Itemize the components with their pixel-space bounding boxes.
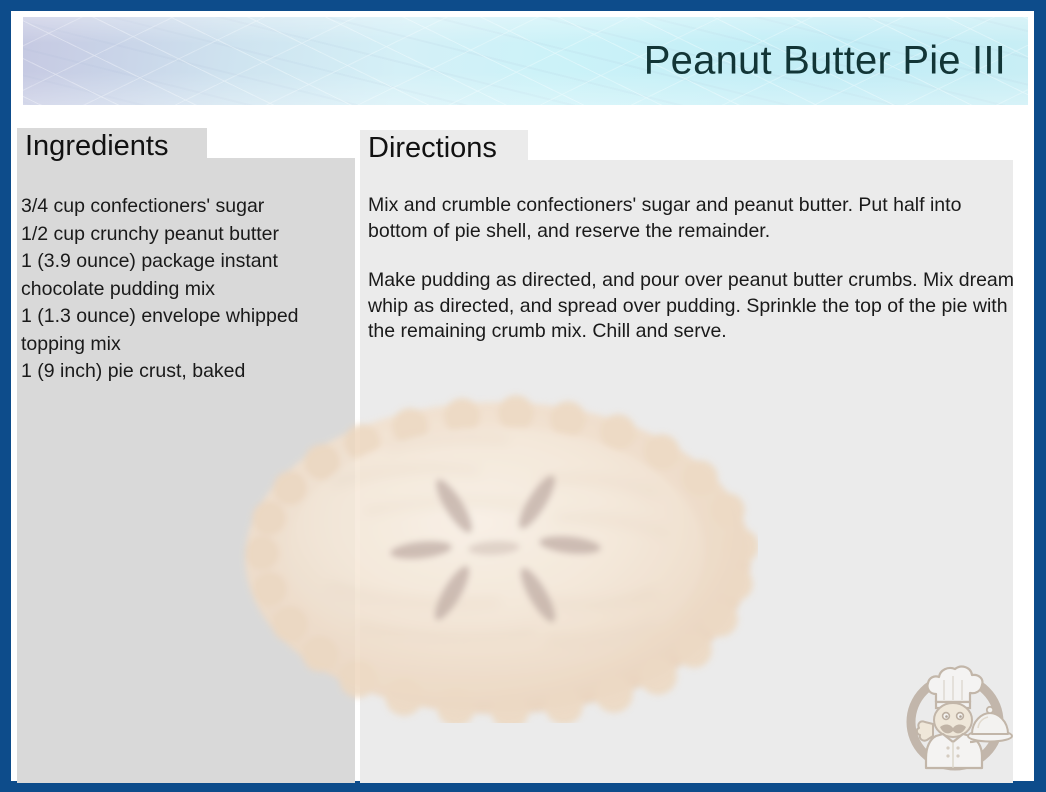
recipe-title: Peanut Butter Pie III [644,39,1006,84]
directions-paragraph: Make pudding as directed, and pour over … [368,268,1018,345]
page-border-right [1034,0,1046,792]
ingredients-heading: Ingredients [25,130,169,162]
directions-paragraph: Mix and crumble confectioners' sugar and… [368,193,1018,244]
recipe-card-page: Peanut Butter Pie III Ingredients 3/4 cu… [0,0,1046,792]
list-item: 3/4 cup confectioners' sugar [21,193,341,221]
list-item: 1/2 cup crunchy peanut butter [21,221,341,249]
ingredients-list: 3/4 cup confectioners' sugar 1/2 cup cru… [21,193,341,386]
list-item: 1 (3.9 ounce) package instant chocolate … [21,248,341,303]
list-item: 1 (9 inch) pie crust, baked [21,358,341,386]
page-border-top [0,0,1046,11]
page-border-left [0,0,11,792]
directions-heading: Directions [368,132,497,164]
list-item: 1 (1.3 ounce) envelope whipped topping m… [21,303,341,358]
directions-text: Mix and crumble confectioners' sugar and… [368,193,1018,345]
header-banner: Peanut Butter Pie III [23,17,1028,105]
